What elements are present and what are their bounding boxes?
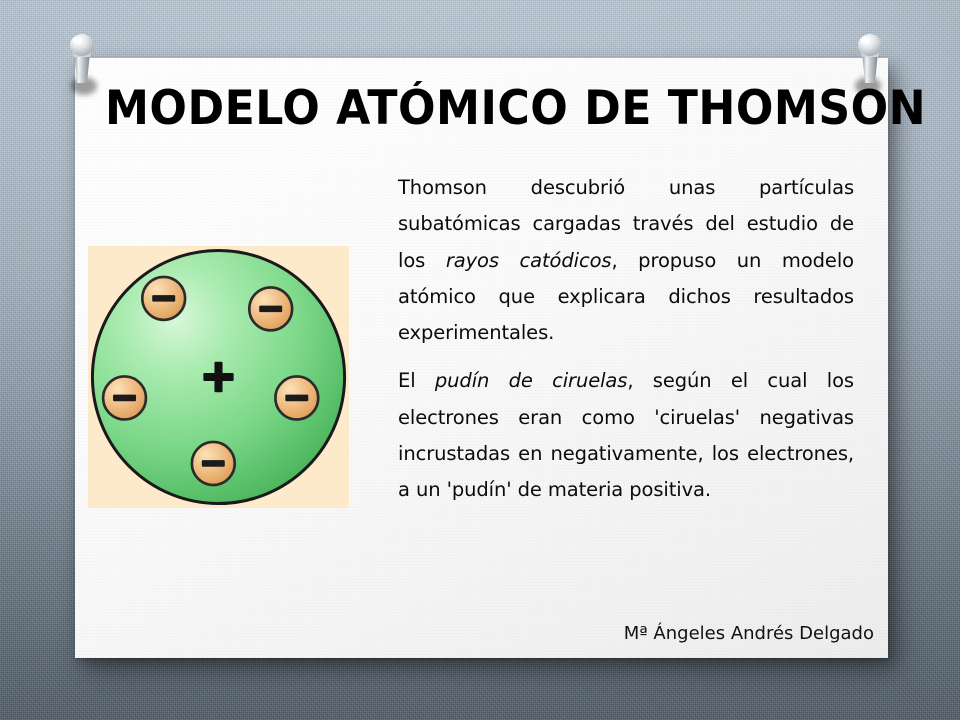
- electron-bottom: [192, 442, 235, 485]
- text-run: El: [398, 369, 435, 392]
- emphasised-term: rayos catódicos: [446, 249, 612, 272]
- paragraph-discovery: Thomson descubrió unas partículas subató…: [398, 170, 854, 351]
- paragraph-plum-pudding: El pudín de ciruelas, según el cual los …: [398, 363, 854, 508]
- atom-figure: [88, 246, 349, 508]
- electron-right: [275, 376, 318, 419]
- author-credit: Mª Ángeles Andrés Delgado: [624, 623, 874, 644]
- pushpin-left-icon[interactable]: [60, 28, 106, 106]
- slide-paper: MODELO ATÓMICO DE THOMSON: [75, 58, 888, 658]
- electron-top-right: [249, 287, 292, 330]
- emphasised-term: pudín de ciruelas: [435, 369, 627, 392]
- electron-top-left: [142, 277, 185, 320]
- electron-left: [103, 376, 146, 419]
- thomson-atom-illustration: [88, 246, 349, 508]
- body-text-column: Thomson descubrió unas partículas subató…: [398, 170, 854, 508]
- page-title: MODELO ATÓMICO DE THOMSON: [105, 84, 819, 134]
- pushpin-right-icon[interactable]: [848, 28, 894, 106]
- slide-canvas: MODELO ATÓMICO DE THOMSON: [0, 0, 960, 720]
